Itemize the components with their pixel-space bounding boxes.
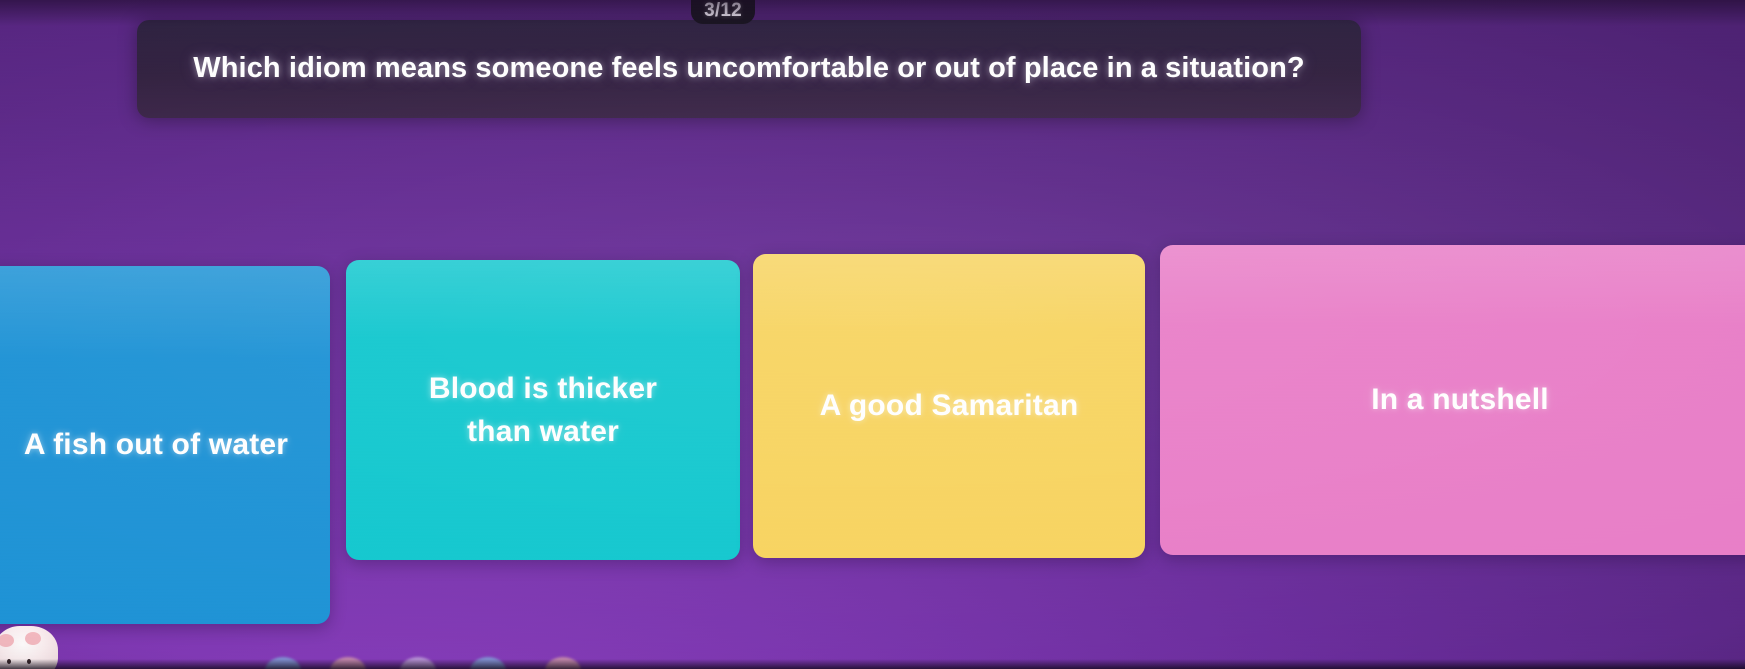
dock-icon[interactable] <box>265 657 301 669</box>
answer-option-card-4[interactable]: In a nutshell <box>1160 245 1745 555</box>
plush-eye-right <box>27 659 31 664</box>
dock-icon[interactable] <box>330 657 366 669</box>
dock-icon[interactable] <box>545 657 581 669</box>
answer-option-card-3[interactable]: A good Samaritan <box>753 254 1145 558</box>
plush-eye-left <box>7 659 11 664</box>
plush-toy-icon <box>0 626 58 669</box>
dock-icon[interactable] <box>400 657 436 669</box>
answer-option-label-1: A fish out of water <box>24 423 288 467</box>
answer-option-label-4: In a nutshell <box>1371 378 1549 422</box>
question-text: Which idiom means someone feels uncomfor… <box>193 52 1304 85</box>
answer-option-label-2: Blood is thicker than water <box>393 367 693 454</box>
answer-option-card-1[interactable]: A fish out of water <box>0 266 330 624</box>
answer-option-card-2[interactable]: Blood is thicker than water <box>346 260 740 560</box>
plush-ear-left <box>0 634 14 647</box>
question-panel: Which idiom means someone feels uncomfor… <box>137 20 1361 118</box>
plush-ear-right <box>25 632 41 645</box>
progress-counter: 3/12 <box>691 0 755 24</box>
dock-icon[interactable] <box>470 657 506 669</box>
bottom-dock <box>0 657 1745 669</box>
quiz-screen: 3/12 Which idiom means someone feels unc… <box>0 0 1745 669</box>
answer-option-label-3: A good Samaritan <box>820 384 1079 428</box>
progress-counter-label: 3/12 <box>704 1 742 24</box>
